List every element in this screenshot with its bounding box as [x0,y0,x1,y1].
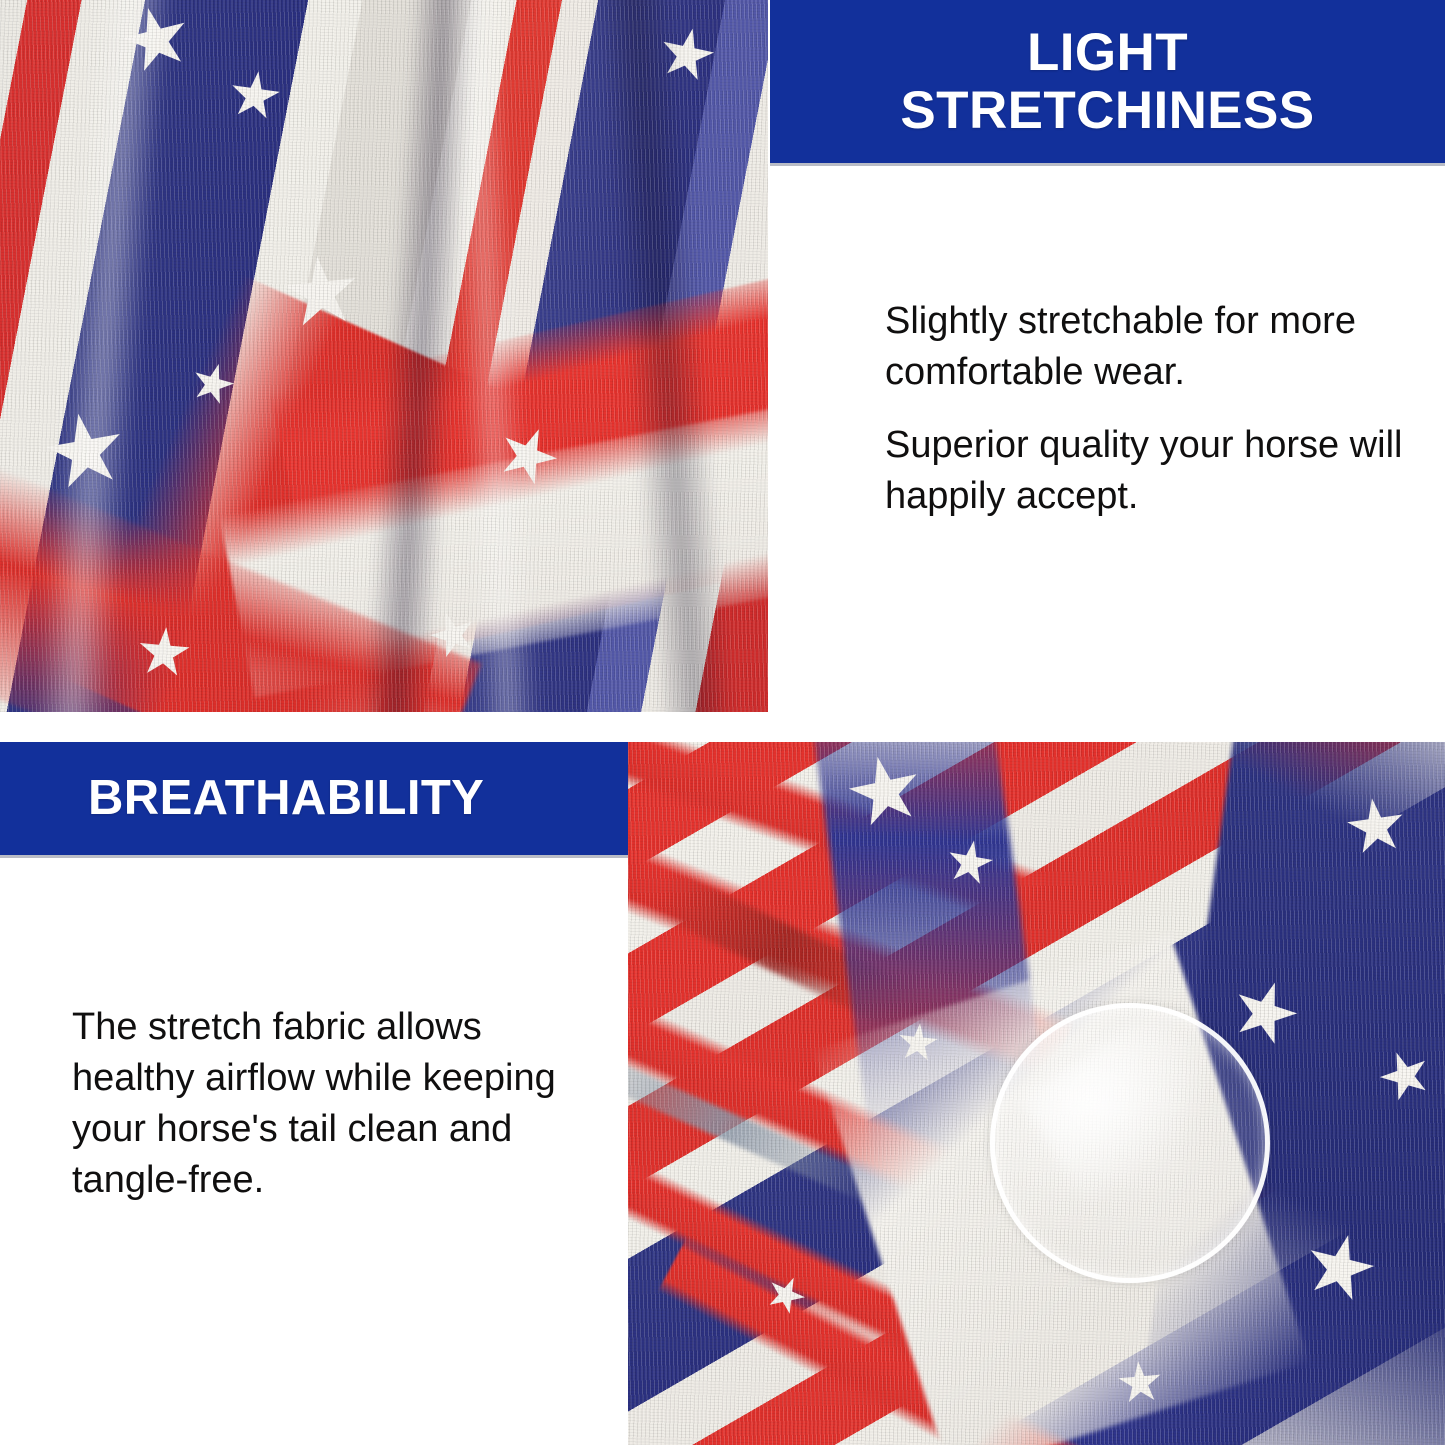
header-title-light-stretchiness: LIGHT STRETCHINESS [900,24,1314,138]
paragraph-stretchable: Slightly stretchable for more comfortabl… [885,296,1405,398]
header-underline-top-right [770,163,1445,166]
body-text-light-stretchiness: Slightly stretchable for more comfortabl… [885,296,1405,522]
header-line-2: STRETCHINESS [900,81,1314,140]
body-text-breathability: The stretch fabric allows healthy airflo… [72,1002,602,1206]
header-line-1: LIGHT [1027,23,1188,82]
fabric-photo-bottom-right [628,742,1445,1445]
product-feature-infographic: LIGHT STRETCHINESS Slightly stretchable … [0,0,1445,1445]
paragraph-superior-quality: Superior quality your horse will happily… [885,420,1405,522]
header-title-breathability: BREATHABILITY [88,772,484,825]
paragraph-airflow: The stretch fabric allows healthy airflo… [72,1002,602,1206]
header-bar-breathability: BREATHABILITY [0,742,628,855]
header-bar-light-stretchiness: LIGHT STRETCHINESS [770,0,1445,163]
fabric-photo-top-left [0,0,768,712]
header-underline-bottom-left [0,855,628,858]
